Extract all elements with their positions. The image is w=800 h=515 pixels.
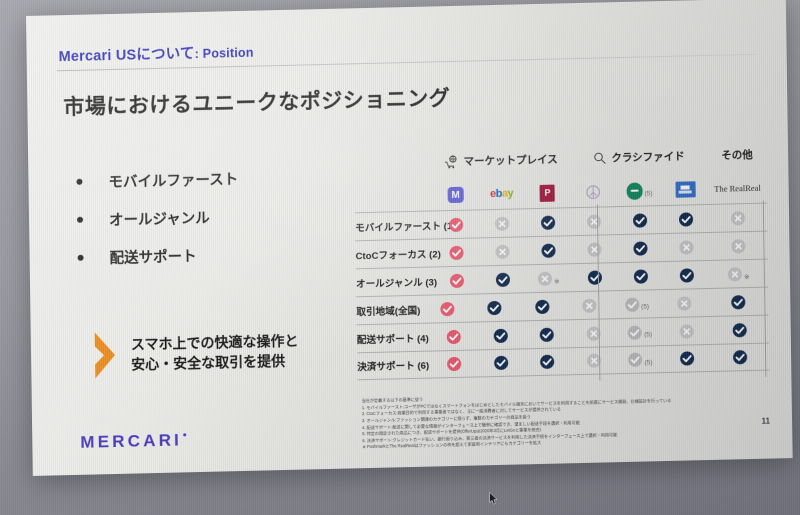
- check-icon: [494, 356, 508, 370]
- check-icon: [732, 323, 746, 337]
- slide-canvas: Mercari USについて: Position 市場におけるユニークなポジショ…: [26, 0, 793, 476]
- matrix-cell: (5): [617, 325, 664, 340]
- cell-note: ※: [744, 273, 750, 281]
- bullet-dot-icon: [78, 255, 84, 261]
- poshmark-logo: P: [540, 184, 555, 201]
- bullet-dot-icon: [76, 179, 82, 185]
- matrix-cell: [571, 214, 617, 229]
- kicker-sub: : Position: [195, 46, 254, 61]
- kicker-main: Mercari USについて: [58, 46, 194, 65]
- matrix-cell: [708, 294, 768, 309]
- bullet-label: モバイルファースト: [108, 168, 238, 192]
- cross-icon: [679, 240, 693, 254]
- check-icon-muted: [625, 297, 639, 311]
- check-icon: [633, 241, 647, 255]
- row-label: 取引地域(全国): [356, 302, 423, 318]
- chevron-right-icon: [93, 330, 120, 381]
- ebay-logo: ebay: [490, 188, 513, 201]
- check-icon: [633, 213, 647, 227]
- bullet-item: モバイルファースト: [76, 157, 336, 201]
- matrix-cell: [709, 238, 767, 253]
- callout-block: スマホ上での快適な操作と 安心・安全な取引を提供: [93, 326, 299, 381]
- magnifier-icon: [593, 151, 606, 164]
- cross-icon: [677, 296, 691, 310]
- group-label: その他: [721, 147, 753, 163]
- page-title: 市場におけるユニークなポジショニング: [63, 82, 450, 121]
- logo-cell-realreal: The RealReal: [708, 183, 766, 194]
- cross-icon: [538, 271, 552, 285]
- logo-cell-mercari: M: [433, 186, 479, 203]
- cell-note: (5): [641, 303, 649, 310]
- matrix-cell: [710, 350, 769, 365]
- callout-text: スマホ上での快適な操作と 安心・安全な取引を提供: [131, 330, 299, 375]
- matrix-cell: [480, 272, 526, 287]
- check-icon: [496, 272, 510, 286]
- bullet-label: オールジャンル: [109, 206, 210, 229]
- row-label: 決済サポート (6): [357, 358, 431, 374]
- check-icon: [450, 273, 464, 287]
- group-label: マーケットプレイス: [463, 152, 557, 169]
- matrix-cell: [423, 301, 471, 316]
- logo-cell-ebay: ebay: [479, 187, 525, 200]
- matrix-cell: [617, 241, 663, 256]
- cross-icon: [679, 324, 693, 338]
- craigslist-logo: [586, 184, 601, 199]
- check-icon: [488, 300, 502, 314]
- matrix-cell: [709, 210, 767, 225]
- callout-line-2: 安心・安全な取引を提供: [131, 351, 299, 375]
- therealreal-logo: The RealReal: [714, 183, 761, 194]
- comparison-matrix: マーケットプレイス クラシファイド その他 MebayP(5)The RealR…: [354, 147, 769, 381]
- brand-dot: [183, 433, 187, 437]
- matrix-cell: [572, 270, 618, 285]
- check-icon: [541, 215, 555, 229]
- matrix-cell: [661, 296, 709, 311]
- logo-cell-offerup: (5): [616, 182, 662, 200]
- matrix-cell: [525, 215, 571, 230]
- matrix-cell: [431, 329, 478, 344]
- shopping-cart-globe-icon: [444, 154, 458, 168]
- mouse-cursor: [489, 492, 498, 505]
- matrix-cell: [571, 242, 617, 257]
- check-icon: [535, 299, 549, 313]
- cell-note: (5): [644, 359, 652, 366]
- check-icon: [680, 268, 694, 282]
- logo-cell-poshmark: P: [524, 184, 570, 202]
- matrix-cell: [618, 269, 664, 284]
- check-icon: [541, 243, 555, 257]
- matrix-cell: [431, 356, 478, 371]
- footnote-list: 当社が定義する以下の基準に従う1. モバイルファースト:ユーザがPCではなくスマ…: [362, 389, 763, 451]
- row-label: CtoCフォーカス (2): [355, 246, 433, 262]
- matrix-cell: [433, 245, 479, 260]
- logo-cell-craigslist: [570, 184, 616, 200]
- matrix-cell: [570, 326, 617, 341]
- matrix-cell: ※: [526, 271, 572, 286]
- matrix-cell: [433, 217, 479, 232]
- mercari-logo: M: [448, 187, 464, 203]
- matrix-cell: [571, 353, 618, 368]
- bullet-dot-icon: [77, 217, 83, 223]
- check-icon-muted: [628, 353, 642, 367]
- matrix-cell: [471, 300, 519, 315]
- bullet-label: 配送サポート: [109, 245, 196, 268]
- row-label: モバイルファースト (1): [355, 218, 433, 234]
- matrix-cell: [663, 239, 709, 254]
- brand-text: MERCARI: [80, 430, 182, 451]
- check-icon-muted: [628, 325, 642, 339]
- check-icon: [680, 351, 694, 365]
- matrix-cell: [617, 213, 663, 228]
- check-icon: [588, 270, 602, 284]
- cross-icon: [495, 244, 509, 258]
- cell-note: (5): [644, 331, 652, 338]
- check-icon: [449, 217, 463, 231]
- cell-note: ※: [554, 277, 560, 285]
- matrix-cell: [478, 355, 525, 370]
- check-icon: [679, 212, 693, 226]
- row-label: 配送サポート (4): [357, 330, 431, 346]
- matrix-cell: [710, 322, 769, 337]
- matrix-cell: (5): [617, 352, 664, 367]
- group-classified: クラシファイド: [570, 148, 708, 166]
- check-icon: [540, 355, 554, 369]
- page-number: 11: [762, 417, 771, 426]
- matrix-cell: [524, 327, 571, 342]
- cross-icon: [587, 242, 601, 256]
- cross-icon: [583, 298, 597, 312]
- check-icon: [731, 295, 745, 309]
- check-icon: [493, 328, 507, 342]
- cross-icon: [728, 267, 742, 281]
- projected-slide: Mercari USについて: Position 市場におけるユニークなポジショ…: [26, 0, 793, 476]
- matrix-cell: ※: [710, 266, 768, 281]
- matrix-cell: [477, 328, 524, 343]
- offerup-logo: [626, 182, 642, 199]
- group-marketplace: マーケットプレイス: [432, 151, 570, 169]
- matrix-rows: モバイルファースト (1)CtoCフォーカス (2)オールジャンル (3)※※取…: [355, 203, 769, 381]
- row-label: オールジャンル (3): [356, 274, 434, 290]
- check-icon: [447, 329, 461, 343]
- check-icon: [449, 245, 463, 259]
- slide-kicker: Mercari USについて: Position: [58, 41, 253, 67]
- matrix-cell: (5): [613, 297, 661, 312]
- matrix-cell: [664, 351, 711, 366]
- bullet-item: 配送サポート: [77, 233, 337, 277]
- matrix-cell: [663, 211, 709, 226]
- check-icon: [540, 327, 554, 341]
- matrix-cell: [479, 244, 525, 259]
- group-label: クラシファイド: [611, 149, 684, 166]
- matrix-cell: [518, 299, 566, 314]
- bullet-list: モバイルファーストオールジャンル配送サポート: [76, 157, 338, 277]
- cross-icon: [731, 239, 745, 253]
- matrix-cell: [663, 323, 710, 338]
- matrix-cell: [479, 216, 525, 231]
- column-note: (5): [645, 190, 653, 197]
- check-icon: [447, 357, 461, 371]
- cross-icon: [495, 216, 509, 230]
- matrix-cell: [434, 273, 480, 288]
- matrix-cell: [525, 243, 571, 258]
- cross-icon: [731, 211, 745, 225]
- matrix-cell: [524, 354, 571, 369]
- logo-cell-facebook: [662, 181, 708, 198]
- matrix-cell: [566, 298, 614, 313]
- cross-icon: [587, 214, 601, 228]
- mercari-wordmark: MERCARI: [80, 430, 187, 453]
- bullet-item: オールジャンル: [77, 195, 337, 239]
- check-icon: [440, 301, 454, 315]
- group-other: その他: [708, 147, 766, 163]
- facebook-marketplace-logo: [675, 181, 695, 197]
- check-icon: [634, 269, 648, 283]
- check-icon: [733, 350, 747, 364]
- photo-backdrop: Mercari USについて: Position 市場におけるユニークなポジショ…: [0, 0, 800, 515]
- matrix-cell: [664, 267, 710, 282]
